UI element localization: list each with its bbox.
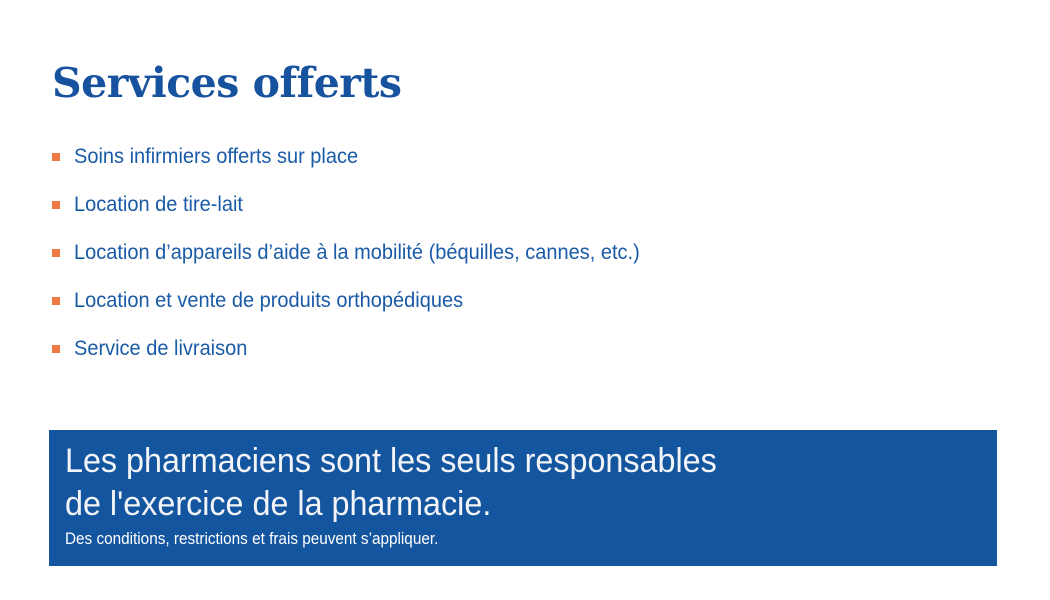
callout-headline-line-1: Les pharmaciens sont les seuls responsab…: [65, 440, 935, 483]
square-bullet-icon: [52, 249, 60, 257]
square-bullet-icon: [52, 297, 60, 305]
list-item-label: Location d’appareils d’aide à la mobilit…: [74, 239, 640, 265]
list-item-label: Location de tire-lait: [74, 191, 243, 217]
list-item: Location de tire-lait: [52, 191, 992, 239]
list-item: Location d’appareils d’aide à la mobilit…: [52, 239, 992, 287]
list-item: Service de livraison: [52, 335, 992, 383]
list-item: Soins infirmiers offerts sur place: [52, 143, 992, 191]
square-bullet-icon: [52, 201, 60, 209]
slide-canvas: Services offerts Soins infirmiers offert…: [0, 0, 1050, 600]
square-bullet-icon: [52, 153, 60, 161]
list-item-label: Soins infirmiers offerts sur place: [74, 143, 358, 169]
list-item-label: Service de livraison: [74, 335, 247, 361]
services-bullet-list: Soins infirmiers offerts sur place Locat…: [52, 143, 992, 383]
callout-headline-line-2: de l'exercice de la pharmacie.: [65, 483, 935, 526]
list-item-label: Location et vente de produits orthopédiq…: [74, 287, 463, 313]
disclaimer-callout-box: Les pharmaciens sont les seuls responsab…: [49, 430, 997, 566]
list-item: Location et vente de produits orthopédiq…: [52, 287, 992, 335]
page-title: Services offerts: [52, 60, 401, 107]
square-bullet-icon: [52, 345, 60, 353]
callout-subtext: Des conditions, restrictions et frais pe…: [65, 528, 889, 550]
